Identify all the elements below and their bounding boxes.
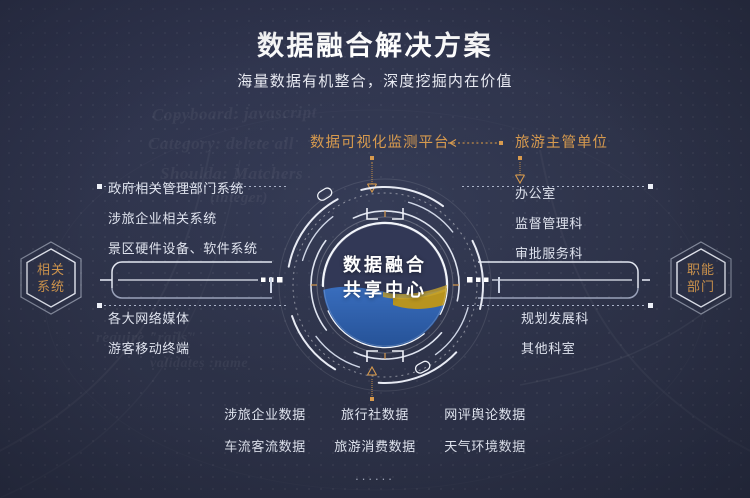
data-item: 天气环境数据 bbox=[430, 436, 540, 455]
watermark-text: Copyboard: javascript bbox=[152, 103, 317, 126]
page-title: 数据融合解决方案 bbox=[0, 24, 750, 63]
list-item: 各大网络媒体 bbox=[108, 308, 190, 327]
hexagon-left-line1: 相关 bbox=[37, 261, 65, 278]
data-item: 网评舆论数据 bbox=[430, 404, 540, 423]
list-item: 审批服务科 bbox=[515, 243, 583, 262]
list-item: 监督管理科 bbox=[515, 213, 583, 232]
hexagon-related-systems[interactable]: 相关 系统 bbox=[18, 240, 84, 316]
core-label-line2: 共享中心 bbox=[265, 278, 505, 303]
label-authority-unit: 旅游主管单位 bbox=[515, 131, 608, 152]
data-item: 车流客流数据 bbox=[210, 436, 320, 455]
list-item: 办公室 bbox=[515, 183, 583, 202]
label-visualization-platform: 数据可视化监测平台 bbox=[310, 131, 450, 152]
data-item: 旅行社数据 bbox=[320, 404, 430, 423]
list-item: 景区硬件设备、软件系统 bbox=[108, 238, 258, 257]
list-right-lower: 规划发展科 其他科室 bbox=[521, 308, 589, 368]
dotted-arrow-left-icon bbox=[447, 139, 507, 147]
list-item: 其他科室 bbox=[521, 338, 589, 357]
core-label: 数据融合 共享中心 bbox=[265, 253, 505, 303]
list-left-lower: 各大网络媒体 游客移动终端 bbox=[108, 308, 190, 368]
list-item: 游客移动终端 bbox=[108, 338, 190, 357]
page-subtitle: 海量数据有机整合，深度挖掘内在价值 bbox=[0, 70, 750, 91]
data-item: 旅游消费数据 bbox=[320, 436, 430, 455]
bottom-data-row: 车流客流数据 旅游消费数据 天气环境数据 bbox=[0, 436, 750, 455]
hexagon-right-line2: 部门 bbox=[687, 278, 715, 295]
hexagon-left-line2: 系统 bbox=[37, 278, 65, 295]
list-right-upper: 办公室 监督管理科 审批服务科 bbox=[515, 183, 583, 273]
list-item: 涉旅企业相关系统 bbox=[108, 208, 258, 227]
list-left-upper: 政府相关管理部门系统 涉旅企业相关系统 景区硬件设备、软件系统 bbox=[108, 178, 258, 268]
list-item: 政府相关管理部门系统 bbox=[108, 178, 258, 197]
hexagon-right-line1: 职能 bbox=[687, 261, 715, 278]
hexagon-left-label: 相关 系统 bbox=[18, 240, 84, 316]
core-label-line1: 数据融合 bbox=[265, 253, 505, 278]
top-label-row: 数据可视化监测平台 旅游主管单位 bbox=[0, 131, 750, 153]
hexagon-functional-departments[interactable]: 职能 部门 bbox=[668, 240, 734, 316]
infographic-canvas: Copyboard: javascript Category: delete a… bbox=[0, 0, 750, 498]
bottom-data-section: 涉旅企业数据 旅行社数据 网评舆论数据 车流客流数据 旅游消费数据 天气环境数据… bbox=[0, 404, 750, 483]
core-hub[interactable]: 数据融合 共享中心 bbox=[265, 165, 505, 405]
hexagon-right-label: 职能 部门 bbox=[668, 240, 734, 316]
bottom-data-row: 涉旅企业数据 旅行社数据 网评舆论数据 bbox=[0, 404, 750, 423]
data-item: 涉旅企业数据 bbox=[210, 404, 320, 423]
list-item: 规划发展科 bbox=[521, 308, 589, 327]
data-ellipsis: ...... bbox=[0, 468, 750, 483]
